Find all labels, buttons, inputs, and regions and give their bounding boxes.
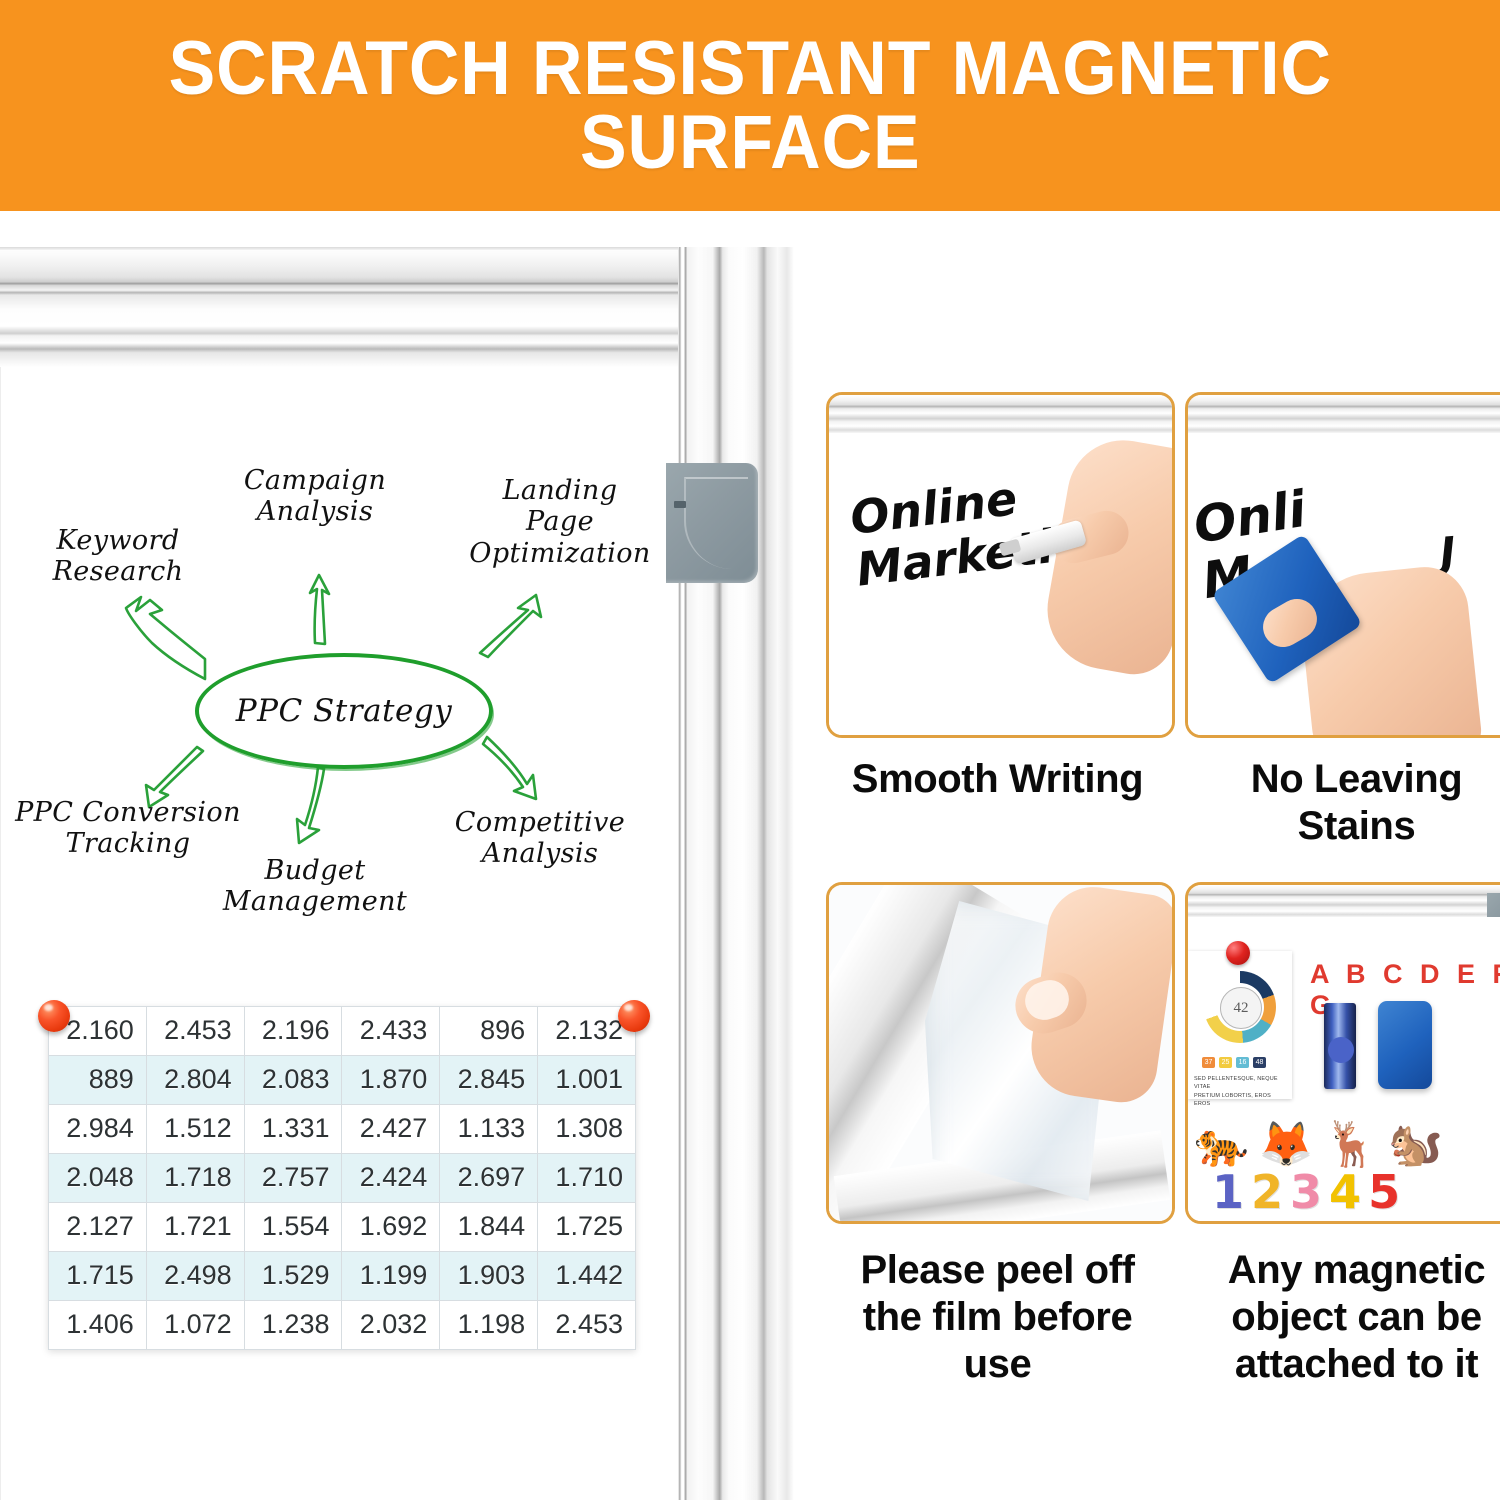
poster-lorem-text: SED PELLENTESQUE, NEQUE VITAE PRETIUM LO… xyxy=(1194,1075,1288,1108)
table-cell: 896 xyxy=(440,1007,538,1056)
table-cell: 2.697 xyxy=(440,1154,538,1203)
table-cell: 1.844 xyxy=(440,1203,538,1252)
handwriting-online-marketing: Online Marketi xyxy=(847,469,1056,595)
table-cell: 2.083 xyxy=(244,1056,342,1105)
animal-magnets: 🐅 🦊 🦌 🐿️ xyxy=(1194,1123,1443,1167)
table-cell: 889 xyxy=(49,1056,147,1105)
mindmap-node-landing-page-optimization: Landing Page Optimization xyxy=(440,475,680,569)
mini-frame-rail xyxy=(1188,885,1500,917)
mini-whiteboard-surface: 42 37 25 16 48 SED PELLENTESQUE, NEQUE V… xyxy=(1188,917,1500,1221)
table-cell: 1.308 xyxy=(538,1105,636,1154)
mini-whiteboard-surface: Online Marketi xyxy=(829,433,1172,735)
mindmap-node-keyword-research: Keyword Research xyxy=(18,525,218,588)
number-magnet-2: 2 xyxy=(1251,1165,1283,1219)
feature-card-no-leaving-stains[interactable]: Onli M J xyxy=(1185,392,1500,738)
table-cell: 1.072 xyxy=(146,1301,244,1350)
red-magnet-icon xyxy=(1226,941,1250,965)
squirrel-icon: 🐿️ xyxy=(1388,1123,1443,1167)
poster-kpi-row: 37 25 16 48 xyxy=(1202,1057,1266,1068)
table-cell: 1.725 xyxy=(538,1203,636,1252)
data-table: 2.1602.4532.1962.4338962.1328892.8042.08… xyxy=(48,1006,636,1350)
table-row: 1.4061.0721.2382.0321.1982.453 xyxy=(49,1301,636,1350)
kpi-badge: 25 xyxy=(1219,1057,1232,1068)
mini-frame-rail xyxy=(829,395,1172,433)
deer-icon: 🦌 xyxy=(1324,1123,1379,1167)
table-cell: 2.845 xyxy=(440,1056,538,1105)
table-cell: 1.198 xyxy=(440,1301,538,1350)
mindmap-node-competitive-analysis: Competitive Analysis xyxy=(430,807,650,870)
caption-peel-film: Please peel off the film before use xyxy=(826,1247,1169,1389)
table-cell: 2.032 xyxy=(342,1301,440,1350)
table-row: 2.1271.7211.5541.6921.8441.725 xyxy=(49,1203,636,1252)
table-cell: 2.498 xyxy=(146,1252,244,1301)
magnet-top-left-icon xyxy=(38,1000,70,1032)
feature-card-smooth-writing[interactable]: Online Marketi xyxy=(826,392,1175,738)
magnetic-numbers: 12345 xyxy=(1212,1165,1400,1219)
table-cell: 2.984 xyxy=(49,1105,147,1154)
table-cell: 1.199 xyxy=(342,1252,440,1301)
mini-whiteboard-surface: Onli M J xyxy=(1188,433,1500,735)
table-cell: 2.433 xyxy=(342,1007,440,1056)
table-cell: 1.442 xyxy=(538,1252,636,1301)
mindmap-node-budget-management: Budget Management xyxy=(185,855,445,918)
caption-no-leaving-stains: No Leaving Stains xyxy=(1185,756,1500,850)
feature-cards-panel: Online Marketi Smooth Writing Onli M J N… xyxy=(800,211,1500,1500)
feature-card-peel-film[interactable] xyxy=(826,882,1175,1224)
table-cell: 1.692 xyxy=(342,1203,440,1252)
poster-chart: 42 37 25 16 48 SED PELLENTESQUE, NEQUE V… xyxy=(1188,951,1292,1099)
table-cell: 1.406 xyxy=(49,1301,147,1350)
table-cell: 2.127 xyxy=(49,1203,147,1252)
whiteboard-product-photo: PPC Strategy Keyword Research Campaign A… xyxy=(0,211,800,1500)
number-magnet-5: 5 xyxy=(1368,1165,1400,1219)
table-cell: 1.001 xyxy=(538,1056,636,1105)
blue-eraser-icon xyxy=(1378,1001,1432,1089)
mindmap-node-campaign-analysis: Campaign Analysis xyxy=(200,465,430,528)
feature-card-magnetic-objects[interactable]: 42 37 25 16 48 SED PELLENTESQUE, NEQUE V… xyxy=(1185,882,1500,1224)
table-cell: 2.453 xyxy=(538,1301,636,1350)
number-magnet-4: 4 xyxy=(1329,1165,1361,1219)
caption-magnetic-objects: Any magnetic object can be attached to i… xyxy=(1185,1247,1500,1389)
mindmap-center-oval: PPC Strategy xyxy=(195,653,493,769)
table-cell: 2.804 xyxy=(146,1056,244,1105)
table-cell: 1.133 xyxy=(440,1105,538,1154)
table-row: 8892.8042.0831.8702.8451.001 xyxy=(49,1056,636,1105)
table-cell: 1.718 xyxy=(146,1154,244,1203)
table-cell: 1.715 xyxy=(49,1252,147,1301)
table-cell: 2.427 xyxy=(342,1105,440,1154)
ppc-strategy-mindmap: PPC Strategy Keyword Research Campaign A… xyxy=(0,447,680,947)
banner-headline: SCRATCH RESISTANT MAGNETIC SURFACE xyxy=(141,32,1360,179)
table-cell: 2.196 xyxy=(244,1007,342,1056)
donut-center-value: 42 xyxy=(1220,987,1262,1029)
table-cell: 2.048 xyxy=(49,1154,147,1203)
table-cell: 1.331 xyxy=(244,1105,342,1154)
kpi-badge: 16 xyxy=(1236,1057,1249,1068)
table-cell: 1.903 xyxy=(440,1252,538,1301)
table-cell: 1.721 xyxy=(146,1203,244,1252)
product-feature-page: SCRATCH RESISTANT MAGNETIC SURFACE xyxy=(0,0,1500,1500)
table-cell: 1.554 xyxy=(244,1203,342,1252)
whiteboard-data-table: 2.1602.4532.1962.4338962.1328892.8042.08… xyxy=(48,1006,636,1350)
mini-frame-rail xyxy=(1188,395,1500,433)
table-cell: 1.710 xyxy=(538,1154,636,1203)
mini-whiteboard-surface xyxy=(829,885,1172,1221)
table-row: 2.0481.7182.7572.4242.6971.710 xyxy=(49,1154,636,1203)
table-cell: 1.512 xyxy=(146,1105,244,1154)
fox-icon: 🦊 xyxy=(1259,1123,1314,1167)
table-row: 1.7152.4981.5291.1991.9031.442 xyxy=(49,1252,636,1301)
table-cell: 2.757 xyxy=(244,1154,342,1203)
number-magnet-1: 1 xyxy=(1212,1165,1244,1219)
mindmap-node-ppc-conversion-tracking: PPC Conversion Tracking xyxy=(0,797,268,860)
aluminum-frame-right-rail xyxy=(678,247,794,1500)
caption-smooth-writing: Smooth Writing xyxy=(826,756,1169,803)
table-cell: 2.424 xyxy=(342,1154,440,1203)
kpi-badge: 37 xyxy=(1202,1057,1215,1068)
marker-cap-icon xyxy=(1328,1037,1354,1063)
kpi-badge: 48 xyxy=(1253,1057,1266,1068)
mindmap-center-label: PPC Strategy xyxy=(199,657,489,765)
table-cell: 1.529 xyxy=(244,1252,342,1301)
table-cell: 1.870 xyxy=(342,1056,440,1105)
aluminum-frame-top-rail xyxy=(0,247,690,367)
table-cell: 1.238 xyxy=(244,1301,342,1350)
header-banner: SCRATCH RESISTANT MAGNETIC SURFACE xyxy=(0,0,1500,211)
magnet-top-right-icon xyxy=(618,1000,650,1032)
table-cell: 2.453 xyxy=(146,1007,244,1056)
table-row: 2.9841.5121.3312.4271.1331.308 xyxy=(49,1105,636,1154)
tiger-icon: 🐅 xyxy=(1194,1123,1249,1167)
table-row: 2.1602.4532.1962.4338962.132 xyxy=(49,1007,636,1056)
number-magnet-3: 3 xyxy=(1290,1165,1322,1219)
